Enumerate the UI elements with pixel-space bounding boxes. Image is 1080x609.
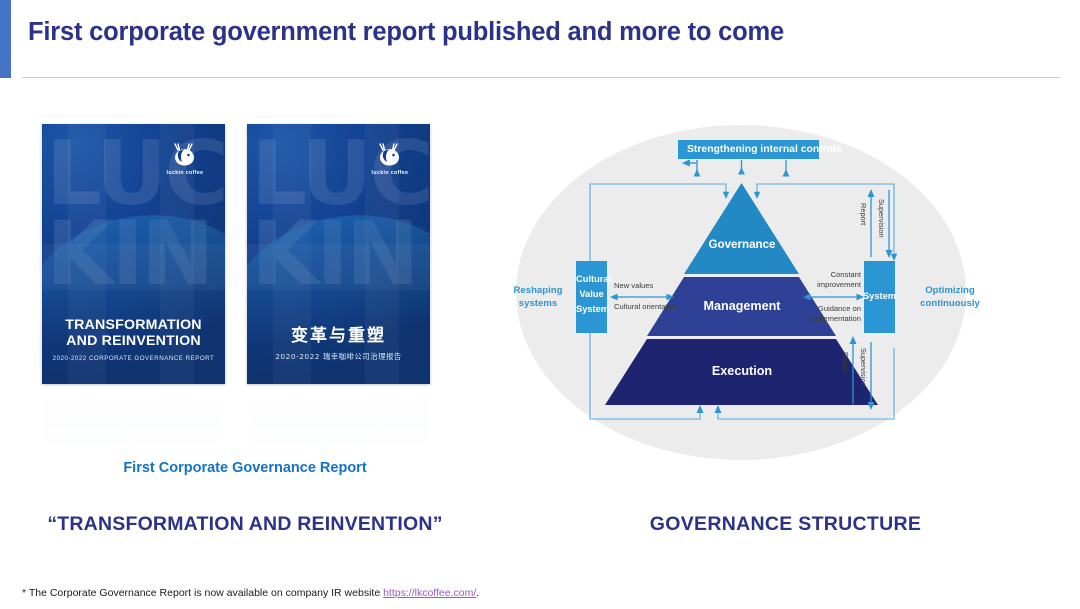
- first-report-caption: First Corporate Governance Report: [0, 460, 490, 476]
- report-cover-english[interactable]: LUC KIN luckin coffee TRANSFORMATION AND…: [42, 124, 225, 384]
- note-new-values: New values: [614, 281, 653, 290]
- header-divider: [22, 77, 1060, 78]
- left-box-label-line1: Cultural: [576, 274, 607, 285]
- cover-artwork-english: LUC KIN luckin coffee TRANSFORMATION AND…: [42, 124, 225, 384]
- cover-caption-chinese: 变革与重塑 2020-2022 瑞幸咖啡公司治理报告: [247, 321, 430, 362]
- cover-title-line2: AND REINVENTION: [50, 334, 217, 350]
- cover-reflection: [42, 385, 225, 457]
- cover-caption-english: TRANSFORMATION AND REINVENTION 2020-2022…: [42, 318, 225, 362]
- outer-label-reshaping-line1: Reshaping: [502, 285, 574, 297]
- outer-label-reshaping-line2: systems: [502, 298, 574, 310]
- cover-subtitle: 2020-2022 CORPORATE GOVERNANCE REPORT: [50, 355, 217, 362]
- governance-diagram: Strengthening internal controls Governan…: [498, 120, 1073, 465]
- page-title: First corporate government report publis…: [28, 18, 784, 47]
- deer-logo-icon: [168, 142, 202, 168]
- flow-label-report-top: Report: [859, 203, 868, 225]
- tier-label-governance: Governance: [687, 238, 797, 251]
- transformation-caption: “TRANSFORMATION AND REINVENTION”: [0, 513, 490, 536]
- note-constant-improvement-line1: Constant: [801, 270, 861, 279]
- banner-label-strengthening-internal-controls: Strengthening internal controls: [687, 144, 842, 155]
- footnote: * The Corporate Governance Report is now…: [22, 587, 479, 599]
- report-covers-area: LUC KIN luckin coffee TRANSFORMATION AND…: [0, 108, 490, 408]
- flow-label-supervision-bottom: Supervision: [859, 348, 868, 387]
- note-cultural-orientation: Cultural orientation: [614, 302, 678, 311]
- pyramid-tier-governance: [684, 183, 799, 274]
- slide-root: First corporate government report publis…: [0, 0, 1080, 609]
- luckin-logo: luckin coffee: [159, 142, 211, 176]
- flow-label-report-bottom: Report: [841, 352, 850, 374]
- tier-label-management: Management: [677, 299, 807, 313]
- right-box-label-system: System: [862, 291, 897, 302]
- cover-title-chinese: 变革与重塑: [255, 321, 422, 346]
- tier-label-execution: Execution: [677, 364, 807, 378]
- logo-wordmark: luckin coffee: [159, 170, 211, 176]
- cover-subtitle-chinese: 2020-2022 瑞幸咖啡公司治理报告: [255, 351, 422, 362]
- footnote-text-before: * The Corporate Governance Report is now…: [22, 587, 383, 599]
- outer-label-optimizing-line1: Optimizing: [902, 285, 998, 297]
- header-accent-bar: [0, 0, 11, 78]
- cover-artwork-chinese: LUC KIN luckin coffee 变革与重塑 2020-2022 瑞幸…: [247, 124, 430, 384]
- luckin-logo: luckin coffee: [364, 142, 416, 176]
- governance-structure-caption: GOVERNANCE STRUCTURE: [498, 513, 1073, 536]
- note-constant-improvement-line2: improvement: [791, 280, 861, 289]
- left-box-label-line2: Value: [576, 289, 607, 300]
- ir-website-link[interactable]: https://lkcoffee.com/: [383, 587, 476, 599]
- deer-logo-icon: [373, 142, 407, 168]
- cover-title-line1: TRANSFORMATION: [50, 318, 217, 334]
- note-guidance-line2: implementation: [786, 314, 861, 323]
- footnote-text-after: .: [476, 587, 479, 599]
- logo-wordmark: luckin coffee: [364, 170, 416, 176]
- note-guidance-line1: Guidance on: [791, 304, 861, 313]
- outer-label-optimizing-line2: continuously: [902, 298, 998, 310]
- cover-reflection: [247, 385, 430, 457]
- report-cover-chinese[interactable]: LUC KIN luckin coffee 变革与重塑 2020-2022 瑞幸…: [247, 124, 430, 384]
- left-box-label-line3: System: [576, 304, 607, 315]
- flow-label-supervision-top: Supervision: [877, 199, 886, 238]
